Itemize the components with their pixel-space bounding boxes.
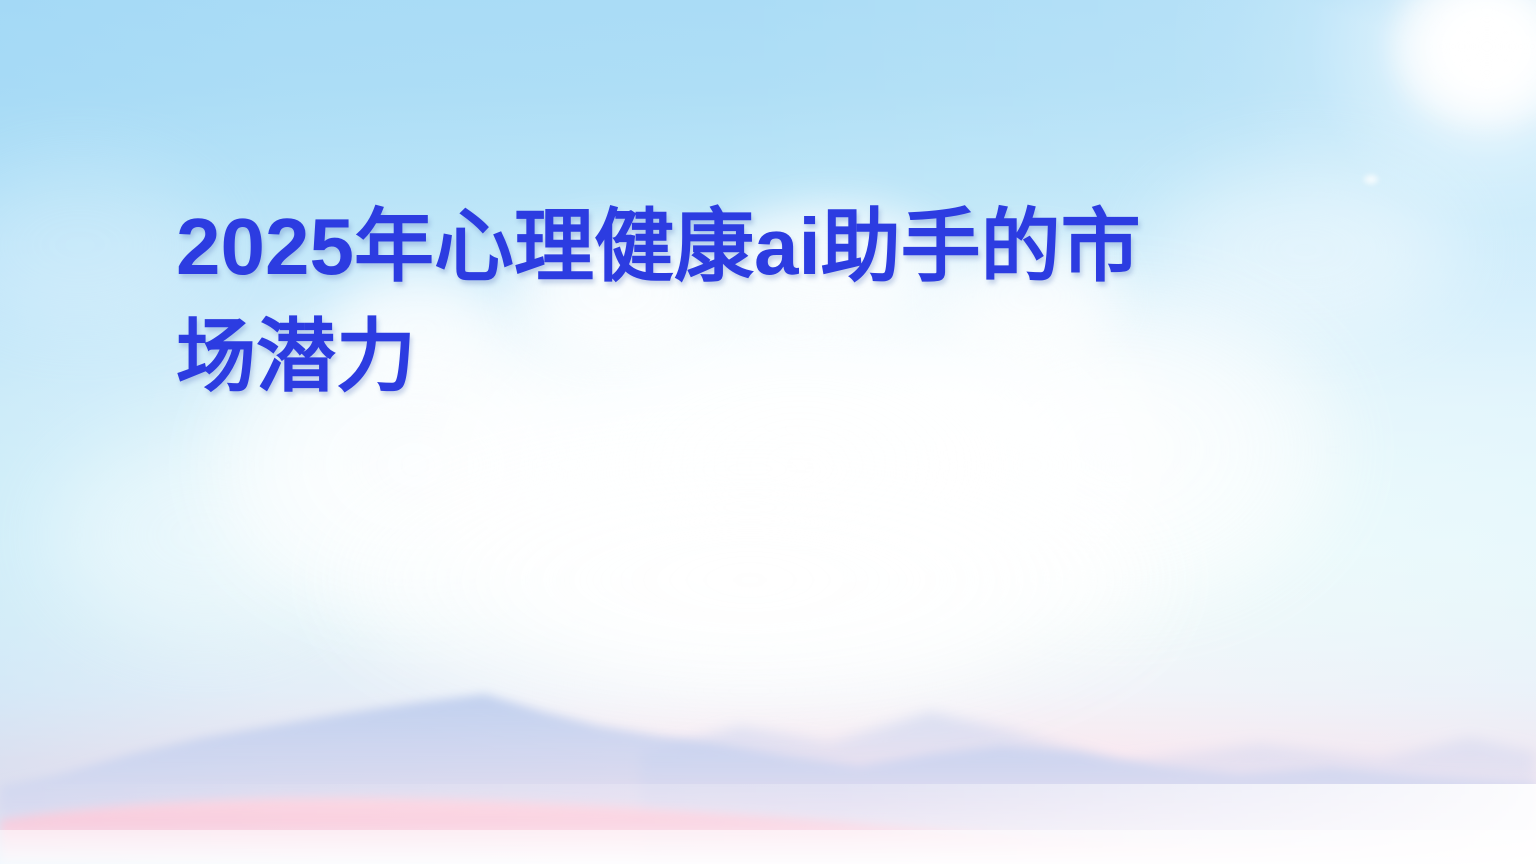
presentation-slide: 2025年心理健康ai助手的市 场潜力 (0, 0, 1536, 864)
sky-horizontal-shading (0, 0, 1536, 864)
title-line-1: 2025年心理健康ai助手的市 (176, 192, 1226, 302)
title-line-2: 场潜力 (176, 302, 1226, 412)
slide-title: 2025年心理健康ai助手的市 场潜力 (176, 192, 1226, 413)
